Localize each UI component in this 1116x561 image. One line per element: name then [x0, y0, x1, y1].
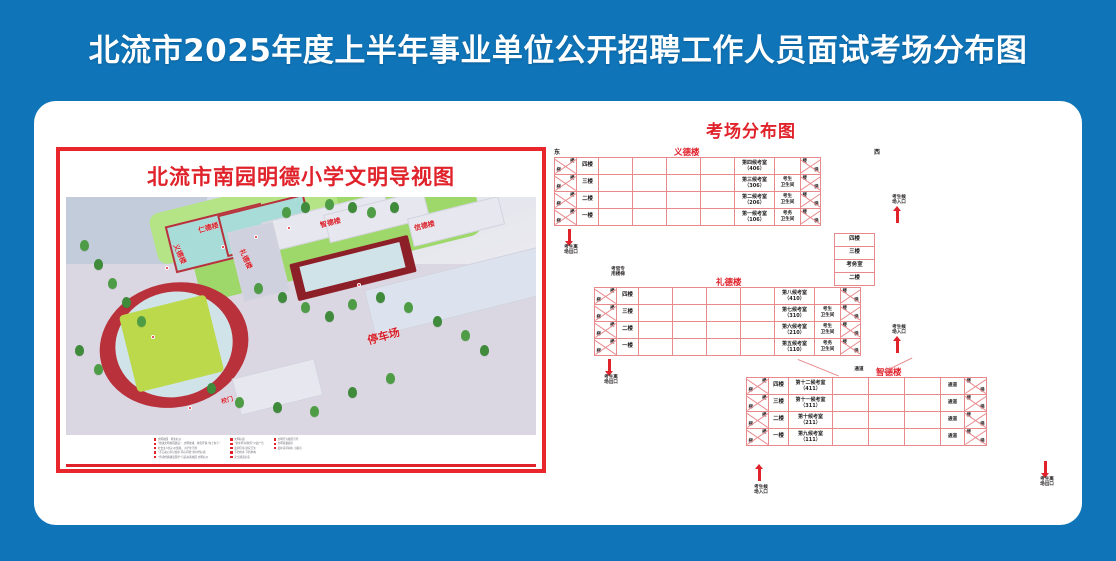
- classroom-cell: [905, 395, 941, 412]
- legend-bullet-icon: [154, 451, 156, 453]
- legend-item-label: 文明就餐提示: [278, 442, 294, 445]
- tree: [94, 364, 103, 375]
- legend-bottom-rule: [66, 464, 536, 467]
- building-li-de-lou: 礼德楼 楼梯四楼第八候考室（410）楼梯楼梯三楼第七候考室（310）考生卫生间楼…: [594, 287, 861, 356]
- legend-bullet-icon: [154, 447, 156, 449]
- exit-label-yi: 考生离场出口: [548, 245, 594, 256]
- tree: [325, 311, 334, 322]
- floor-label-cell: 三楼: [577, 175, 599, 192]
- stair-cell: 楼梯: [965, 412, 987, 429]
- building-floor-row: 楼梯三楼第七候考室（310）考生卫生间楼梯: [595, 305, 861, 322]
- classroom-cell: [599, 175, 633, 192]
- stair-cell: 楼梯: [801, 175, 821, 192]
- stair-cell: 楼梯: [841, 288, 861, 305]
- legend-bullet-icon: [230, 451, 232, 453]
- legend-item: 安全通道示意: [230, 456, 263, 459]
- classroom-cell: [869, 412, 905, 429]
- connector-cell: 四楼: [835, 234, 875, 247]
- classroom-cell: [741, 305, 775, 322]
- classroom-cell: [633, 175, 667, 192]
- classroom-cell: [667, 209, 701, 226]
- legend-bullet-icon: [274, 447, 276, 449]
- diagram-title: 考场分布图: [636, 117, 866, 142]
- tree: [325, 199, 334, 210]
- tree: [348, 387, 357, 398]
- building-grid: 楼梯四楼第四候考室（406）楼梯楼梯三楼第三候考室（306）考生卫生间楼梯楼梯二…: [554, 157, 821, 226]
- legend-item: 文明标语: [230, 438, 263, 441]
- legend-item: 文明就餐提示: [274, 442, 302, 445]
- connector-cell: 三楼: [835, 247, 875, 260]
- legend-bullet-icon: [230, 456, 232, 458]
- building-floor-row: 楼梯四楼第八候考室（410）楼梯: [595, 288, 861, 305]
- classroom-cell: [639, 339, 673, 356]
- classroom-cell: [869, 395, 905, 412]
- classroom-cell: [701, 175, 735, 192]
- toilet-cell: 考务卫生间: [775, 209, 801, 226]
- exit-arrow-yi: [568, 229, 571, 241]
- legend-item: 社会主义核心价值观、小学生守则: [154, 447, 220, 450]
- legend-item-label: 安全通道示意: [234, 456, 250, 459]
- connector-cell: 考务室: [835, 260, 875, 273]
- building-floor-row: 楼梯四楼第十二候考室（411）通道楼梯: [747, 378, 987, 395]
- building-grid: 楼梯四楼第八候考室（410）楼梯楼梯三楼第七候考室（310）考生卫生间楼梯楼梯二…: [594, 287, 861, 356]
- legend-item-label: 文明校园 · 师生礼仪: [158, 438, 181, 441]
- legend-item-label: 爱护环境 讲究卫生: [234, 447, 256, 450]
- building-name-li-de-lou: 礼德楼: [716, 276, 742, 288]
- classroom-cell: [905, 412, 941, 429]
- classroom-cell: [833, 429, 869, 446]
- classroom-cell: [741, 288, 775, 305]
- tree: [301, 202, 310, 213]
- entry-label-top: 考生候场入口: [876, 195, 922, 206]
- floor-label-cell: 二楼: [769, 412, 789, 429]
- tree: [282, 207, 291, 218]
- tree: [376, 292, 385, 303]
- legend-item-label: 社会主义核心价值观、小学生守则: [158, 447, 197, 450]
- exam-room-cell: 第七候考室（310）: [775, 305, 815, 322]
- classroom-cell: [667, 158, 701, 175]
- map-marker: [287, 226, 291, 230]
- connector-row: 二楼: [835, 273, 875, 286]
- legend-item-label: “推进文明校园建设”，文明健康、绿色环保“向上向下”: [158, 442, 220, 445]
- legend-item: 爱护环境 讲究卫生: [230, 447, 263, 450]
- toilet-cell: [815, 288, 841, 305]
- tree: [367, 207, 376, 218]
- classroom-cell: [633, 209, 667, 226]
- legend-column: 文明行为规范引导文明就餐提示爱护花草树木 小提示: [274, 438, 302, 465]
- tree: [75, 345, 84, 356]
- classroom-cell: [707, 305, 741, 322]
- stair-cell: 楼梯: [841, 339, 861, 356]
- tree: [386, 373, 395, 384]
- exam-room-cell: 第十一候考室（311）: [789, 395, 833, 412]
- legend-item: 文明校园 · 师生礼仪: [154, 438, 220, 441]
- stair-cell: 楼梯: [965, 429, 987, 446]
- corridor-cell: 通道: [941, 378, 965, 395]
- stair-cell: 楼梯: [801, 209, 821, 226]
- floor-label-cell: 三楼: [617, 305, 639, 322]
- exam-room-cell: 第十二候考室（411）: [789, 378, 833, 395]
- classroom-cell: [905, 429, 941, 446]
- legend-column: 文明校园 · 师生礼仪“推进文明校园建设”，文明健康、绿色环保“向上向下”社会主…: [154, 438, 220, 465]
- stair-cell: 楼梯: [801, 192, 821, 209]
- entry-arrow-top: [896, 211, 899, 223]
- exit-arrow-zhi: [1044, 461, 1047, 473]
- building-floor-row: 楼梯三楼第十一候考室（311）通道楼梯: [747, 395, 987, 412]
- link-line-li-zhi: [798, 359, 839, 376]
- tree: [461, 330, 470, 341]
- floor-label-cell: 一楼: [577, 209, 599, 226]
- compass-west: 西: [874, 147, 880, 156]
- stair-cell: 楼梯: [965, 378, 987, 395]
- classroom-cell: [707, 288, 741, 305]
- floor-label-cell: 四楼: [577, 158, 599, 175]
- classroom-cell: [599, 158, 633, 175]
- legend-item-label: 爱护花草树木 小提示: [278, 447, 302, 450]
- building-zhi-de-lou: 智德楼 楼梯四楼第十二候考室（411）通道楼梯楼梯三楼第十一候考室（311）通道…: [746, 377, 987, 446]
- building-floor-row: 楼梯一楼第五候考室（110）考务卫生间楼梯: [595, 339, 861, 356]
- exam-room-cell: 第三候考室（306）: [735, 175, 775, 192]
- exam-room-cell: 第一候考室（106）: [735, 209, 775, 226]
- tree: [404, 302, 413, 313]
- legend-item: “不忘初心牢记使命 同心同德”新时代标语: [154, 451, 220, 454]
- classroom-cell: [667, 175, 701, 192]
- stair-cell: 楼梯: [841, 322, 861, 339]
- map-marker: [165, 266, 169, 270]
- classroom-cell: [741, 322, 775, 339]
- tree: [348, 299, 357, 310]
- classroom-cell: [833, 412, 869, 429]
- tree: [137, 316, 146, 327]
- floor-label-cell: 四楼: [769, 378, 789, 395]
- building-name-yi-de-lou: 义德楼: [674, 146, 700, 158]
- connector-row: 三楼: [835, 247, 875, 260]
- stair-cell: 楼梯: [747, 395, 769, 412]
- legend-item: 节约用水 节约用电: [230, 451, 263, 454]
- floor-label-cell: 一楼: [769, 429, 789, 446]
- entry-arrow-zhi: [758, 469, 761, 481]
- campus-guide-card: 北流市南园明德小学文明导视图: [56, 147, 546, 473]
- legend-bullet-icon: [230, 438, 232, 440]
- tree: [94, 259, 103, 270]
- classroom-cell: [599, 209, 633, 226]
- stair-cell: 楼梯: [965, 395, 987, 412]
- exit-label-li: 考生离场出口: [588, 375, 634, 386]
- classroom-cell: [701, 192, 735, 209]
- stair-cell: 楼梯: [841, 305, 861, 322]
- classroom-cell: [639, 305, 673, 322]
- exam-room-cell: 第五候考室（110）: [775, 339, 815, 356]
- tree: [348, 202, 357, 213]
- classroom-cell: [673, 288, 707, 305]
- entry-label-mid: 考生候场入口: [876, 325, 922, 336]
- classroom-cell: [741, 339, 775, 356]
- tree: [433, 316, 442, 327]
- legend-item: 文明行为规范引导: [274, 438, 302, 441]
- exam-room-cell: 第九候考室（111）: [789, 429, 833, 446]
- legend-item: “传承经典诵读国学”打造书香校园 文明礼仪: [154, 456, 220, 459]
- classroom-cell: [833, 395, 869, 412]
- floor-label-cell: 二楼: [577, 192, 599, 209]
- stair-cell: 楼梯: [595, 322, 617, 339]
- stair-cell: 楼梯: [555, 209, 577, 226]
- legend-item-label: “讲文明 树新风”公益广告: [234, 442, 263, 445]
- exam-room-cell: 第六候考室（210）: [775, 322, 815, 339]
- classroom-cell: [673, 305, 707, 322]
- building-floor-row: 楼梯二楼第六候考室（210）考生卫生间楼梯: [595, 322, 861, 339]
- building-grid: 楼梯四楼第十二候考室（411）通道楼梯楼梯三楼第十一候考室（311）通道楼梯楼梯…: [746, 377, 987, 446]
- exit-label-zhi: 考生离场出口: [1024, 477, 1070, 488]
- legend-bullet-icon: [230, 443, 232, 445]
- classroom-cell: [701, 158, 735, 175]
- legend-item: “推进文明校园建设”，文明健康、绿色环保“向上向下”: [154, 442, 220, 445]
- stair-cell: 楼梯: [555, 192, 577, 209]
- floor-label-cell: 三楼: [769, 395, 789, 412]
- corridor-cell: 通道: [941, 412, 965, 429]
- classroom-cell: [599, 192, 633, 209]
- tree: [80, 240, 89, 251]
- building-floor-row: 楼梯一楼第一候考室（106）考务卫生间楼梯: [555, 209, 821, 226]
- floor-label-cell: 二楼: [617, 322, 639, 339]
- page-title: 北流市2025年度上半年事业单位公开招聘工作人员面试考场分布图: [89, 25, 1028, 70]
- stair-cell: 楼梯: [595, 288, 617, 305]
- legend-item-label: 文明标语: [234, 438, 244, 441]
- entry-arrow-mid: [896, 341, 899, 353]
- tree: [108, 278, 117, 289]
- exam-distribution-diagram: 考场分布图 东 西 义德楼 楼梯四楼第四候考室（406）楼梯楼梯三楼第三候考室（…: [546, 109, 1076, 517]
- exam-room-cell: 第十候考室（211）: [789, 412, 833, 429]
- building-floor-row: 楼梯二楼第十候考室（211）通道楼梯: [747, 412, 987, 429]
- classroom-cell: [707, 339, 741, 356]
- exam-room-cell: 第四候考室（406）: [735, 158, 775, 175]
- stair-cell: 楼梯: [555, 175, 577, 192]
- toilet-cell: 考生卫生间: [775, 192, 801, 209]
- legend-bullet-icon: [230, 447, 232, 449]
- building-floor-row: 楼梯四楼第四候考室（406）楼梯: [555, 158, 821, 175]
- classroom-cell: [701, 209, 735, 226]
- legend-bullet-icon: [274, 438, 276, 440]
- campus-illustration: 仁德楼 智德楼 信德楼 礼德楼 义德楼 停车场 校门: [66, 197, 536, 435]
- connector-grid: 四楼三楼考务室二楼: [834, 233, 875, 286]
- legend-bullet-icon: [154, 443, 156, 445]
- page-header: 北流市2025年度上半年事业单位公开招聘工作人员面试考场分布图: [0, 0, 1116, 95]
- classroom-cell: [639, 288, 673, 305]
- tree: [480, 345, 489, 356]
- exam-room-cell: 第二候考室（206）: [735, 192, 775, 209]
- exit-arrow-li: [608, 359, 611, 371]
- exam-room-cell: 第八候考室（410）: [775, 288, 815, 305]
- building-floor-row: 楼梯三楼第三候考室（306）考生卫生间楼梯: [555, 175, 821, 192]
- toilet-cell: [775, 158, 801, 175]
- legend-bullet-icon: [154, 456, 156, 458]
- legend-item: 爱护花草树木 小提示: [274, 447, 302, 450]
- classroom-cell: [667, 192, 701, 209]
- tree: [254, 283, 263, 294]
- classroom-cell: [869, 378, 905, 395]
- corridor-cell: 通道: [941, 395, 965, 412]
- compass-east: 东: [554, 147, 560, 156]
- stair-cell: 楼梯: [747, 378, 769, 395]
- stair-cell: 楼梯: [595, 339, 617, 356]
- classroom-cell: [673, 322, 707, 339]
- tree: [273, 402, 282, 413]
- legend-column: 文明标语“讲文明 树新风”公益广告爱护环境 讲究卫生节约用水 节约用电安全通道示…: [230, 438, 263, 465]
- legend-item-label: 文明行为规范引导: [278, 438, 299, 441]
- content-panel: 北流市南园明德小学文明导视图: [34, 101, 1082, 525]
- connector-row: 四楼: [835, 234, 875, 247]
- floor-label-cell: 四楼: [617, 288, 639, 305]
- entry-label-zhi: 考生候场入口: [738, 485, 784, 496]
- classroom-cell: [869, 429, 905, 446]
- campus-guide-title: 北流市南园明德小学文明导视图: [66, 156, 536, 197]
- classroom-cell: [833, 378, 869, 395]
- toilet-cell: 考务卫生间: [815, 339, 841, 356]
- staff-stair-label: 考官专用楼梯: [598, 267, 638, 278]
- legend-bullet-icon: [274, 443, 276, 445]
- classroom-cell: [707, 322, 741, 339]
- classroom-cell: [639, 322, 673, 339]
- tree: [301, 302, 310, 313]
- tree: [390, 202, 399, 213]
- map-marker: [221, 245, 225, 249]
- legend-bullet-icon: [154, 438, 156, 440]
- campus-legend: 文明校园 · 师生礼仪“推进文明校园建设”，文明健康、绿色环保“向上向下”社会主…: [66, 435, 536, 465]
- connector-row: 考务室: [835, 260, 875, 273]
- connector-block: 四楼三楼考务室二楼: [834, 233, 875, 286]
- stair-cell: 楼梯: [747, 412, 769, 429]
- legend-item: “讲文明 树新风”公益广告: [230, 442, 263, 445]
- tree: [207, 383, 216, 394]
- toilet-cell: 考生卫生间: [775, 175, 801, 192]
- toilet-cell: 考生卫生间: [815, 305, 841, 322]
- legend-item-label: “不忘初心牢记使命 同心同德”新时代标语: [158, 451, 206, 454]
- building-yi-de-lou: 义德楼 楼梯四楼第四候考室（406）楼梯楼梯三楼第三候考室（306）考生卫生间楼…: [554, 157, 821, 226]
- stair-cell: 楼梯: [801, 158, 821, 175]
- map-marker: [151, 335, 155, 339]
- toilet-cell: 考生卫生间: [815, 322, 841, 339]
- stair-cell: 楼梯: [555, 158, 577, 175]
- classroom-cell: [673, 339, 707, 356]
- connector-cell: 二楼: [835, 273, 875, 286]
- corridor-cell: 通道: [941, 429, 965, 446]
- building-floor-row: 楼梯一楼第九候考室（111）通道楼梯: [747, 429, 987, 446]
- tree: [278, 292, 287, 303]
- legend-item-label: 节约用水 节约用电: [234, 451, 256, 454]
- legend-item-label: “传承经典诵读国学”打造书香校园 文明礼仪: [158, 456, 208, 459]
- tree: [235, 397, 244, 408]
- classroom-cell: [633, 158, 667, 175]
- classroom-cell: [905, 378, 941, 395]
- building-floor-row: 楼梯二楼第二候考室（206）考生卫生间楼梯: [555, 192, 821, 209]
- stair-cell: 楼梯: [747, 429, 769, 446]
- corridor-label-top: 通道: [842, 367, 876, 372]
- classroom-cell: [633, 192, 667, 209]
- stair-cell: 楼梯: [595, 305, 617, 322]
- floor-label-cell: 一楼: [617, 339, 639, 356]
